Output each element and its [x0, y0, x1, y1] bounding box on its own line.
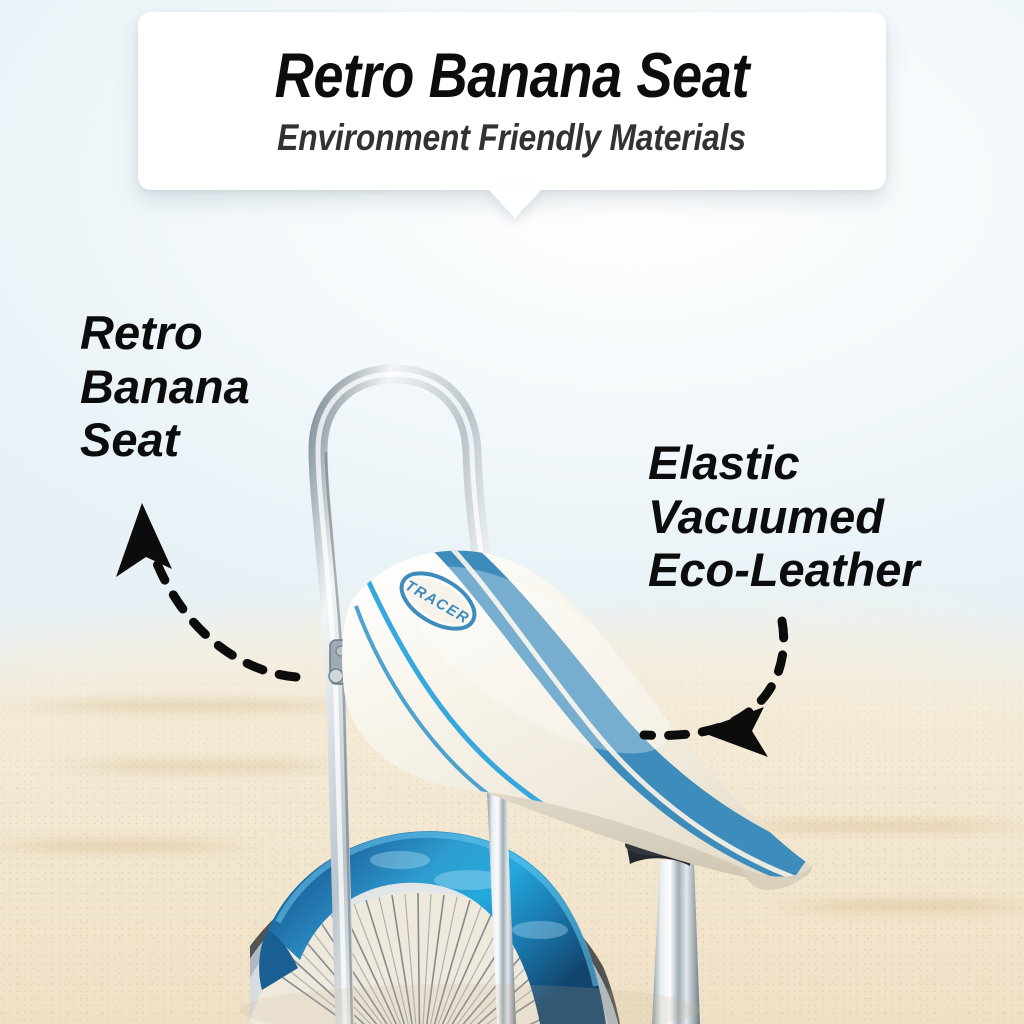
page-subtitle: Environment Friendly Materials — [278, 119, 747, 158]
arrow-head-icon — [698, 707, 768, 757]
callout-label-retro-banana-seat: Retro Banana Seat — [80, 306, 330, 467]
page-title: Retro Banana Seat — [275, 44, 749, 108]
callout-arrow-right — [690, 615, 930, 755]
infographic-canvas: TRACER Retro Banana Seat Environment Fri… — [0, 0, 1024, 1024]
header-card-pointer — [488, 189, 542, 218]
callout-arrow-left — [100, 495, 330, 695]
header-card: Retro Banana Seat Environment Friendly M… — [138, 12, 886, 190]
callout-label-elastic-vacuumed-eco-leather: Elastic Vacuumed Eco-Leather — [648, 436, 998, 597]
arrow-head-icon — [116, 503, 172, 577]
